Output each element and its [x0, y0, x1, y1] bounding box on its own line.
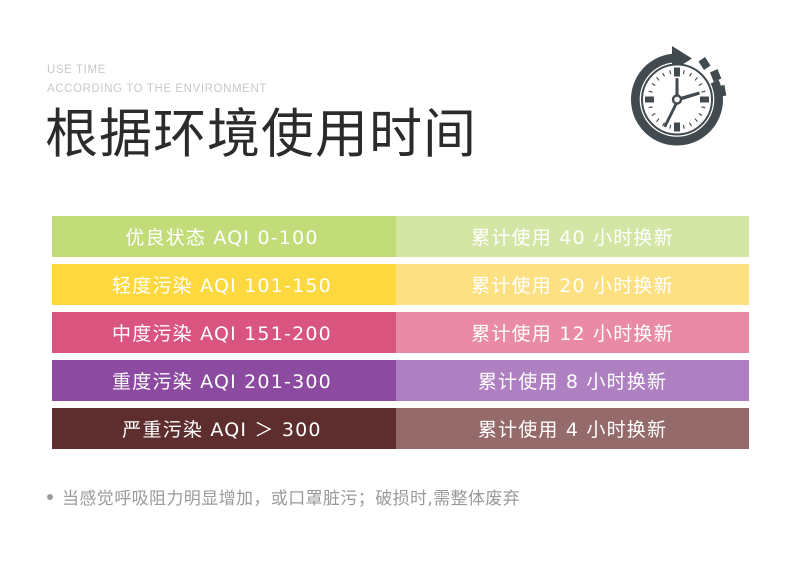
page-title: 根据环境使用时间	[45, 103, 477, 167]
aqi-level-label: 严重污染 AQI ＞ 300	[122, 415, 321, 442]
aqi-level-label: 轻度污染 AQI 101-150	[112, 271, 332, 298]
aqi-level-label: 中度污染 AQI 151-200	[112, 319, 332, 346]
replacement-label: 累计使用 20 小时换新	[471, 271, 674, 298]
replacement-label: 累计使用 4 小时换新	[478, 415, 667, 442]
footnote-text: 当感觉呼吸阻力明显增加，或口罩脏污；破损时,需整体废弃	[62, 484, 520, 509]
table-row: 优良状态 AQI 0-100 累计使用 40 小时换新	[52, 216, 749, 257]
replacement-cell: 累计使用 8 小时换新	[396, 360, 749, 401]
replacement-label: 累计使用 40 小时换新	[471, 223, 674, 250]
header-section: USE TIME ACCORDING TO THE ENVIRONMENT 根据…	[0, 0, 790, 200]
aqi-level-cell: 重度污染 AQI 201-300	[52, 360, 396, 401]
table-row: 中度污染 AQI 151-200 累计使用 12 小时换新	[52, 312, 749, 353]
aqi-level-cell: 优良状态 AQI 0-100	[52, 216, 396, 257]
clock-arrow-icon	[620, 42, 735, 154]
aqi-usage-table: 优良状态 AQI 0-100 累计使用 40 小时换新 轻度污染 AQI 101…	[52, 216, 749, 456]
replacement-label: 累计使用 12 小时换新	[471, 319, 674, 346]
bullet-icon	[47, 494, 53, 500]
replacement-cell: 累计使用 20 小时换新	[396, 264, 749, 305]
replacement-cell: 累计使用 40 小时换新	[396, 216, 749, 257]
table-row: 严重污染 AQI ＞ 300 累计使用 4 小时换新	[52, 408, 749, 449]
aqi-level-cell: 严重污染 AQI ＞ 300	[52, 408, 396, 449]
eyebrow-line-1: USE TIME	[47, 62, 106, 79]
table-row: 重度污染 AQI 201-300 累计使用 8 小时换新	[52, 360, 749, 401]
aqi-level-cell: 中度污染 AQI 151-200	[52, 312, 396, 353]
aqi-level-cell: 轻度污染 AQI 101-150	[52, 264, 396, 305]
aqi-level-label: 重度污染 AQI 201-300	[112, 367, 332, 394]
eyebrow-line-2: ACCORDING TO THE ENVIRONMENT	[47, 81, 267, 98]
replacement-label: 累计使用 8 小时换新	[478, 367, 667, 394]
replacement-cell: 累计使用 12 小时换新	[396, 312, 749, 353]
table-row: 轻度污染 AQI 101-150 累计使用 20 小时换新	[52, 264, 749, 305]
aqi-level-label: 优良状态 AQI 0-100	[125, 223, 318, 250]
footnote: 当感觉呼吸阻力明显增加，或口罩脏污；破损时,需整体废弃	[47, 484, 520, 509]
replacement-cell: 累计使用 4 小时换新	[396, 408, 749, 449]
